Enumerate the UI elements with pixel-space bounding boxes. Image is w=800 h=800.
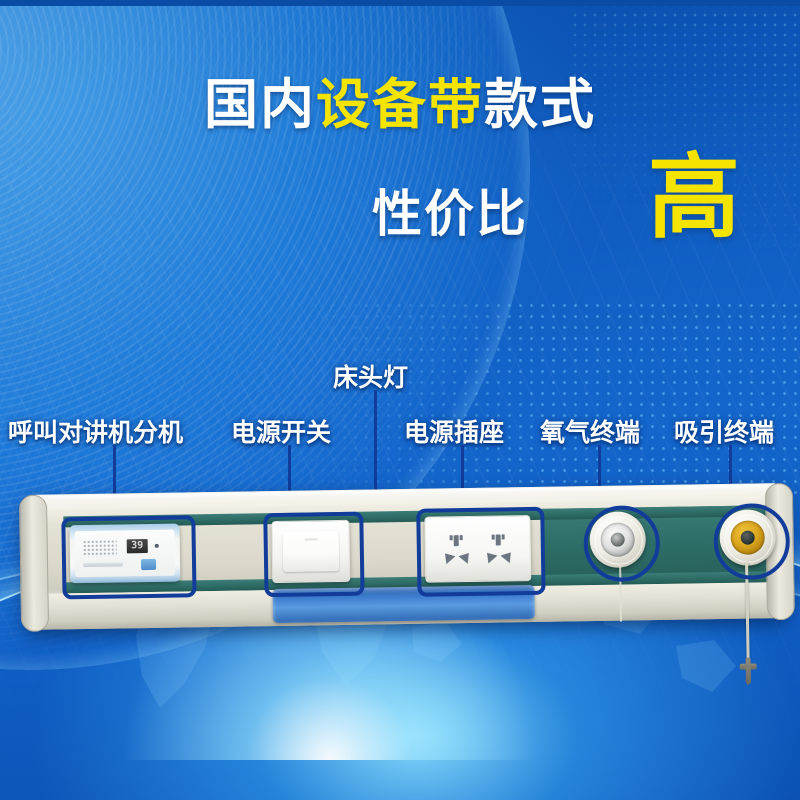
callout-label-suction: 吸引终端 (674, 413, 774, 449)
highlight-box-power-outlet (416, 507, 545, 597)
headline-line-2-row: 性价比 高 (0, 160, 800, 255)
top-edge-bar (0, 0, 800, 6)
headline-block: 国内设备带款式 (0, 78, 800, 132)
headline-accent-word: 高 (648, 152, 740, 244)
panel-end-cap-left (19, 495, 49, 632)
callout-label-oxygen: 氧气终端 (540, 413, 640, 449)
headline-line-2: 性价比 (372, 174, 528, 246)
promo-banner: 国内设备带款式 性价比 高 呼叫对讲机分机 电源开关 床头灯 电源插座 氧气终端… (0, 0, 800, 800)
callout-label-bed-light: 床头灯 (333, 358, 408, 394)
halftone-dots-middle (240, 300, 800, 500)
callout-label-power-switch: 电源开关 (231, 413, 331, 449)
headline-line1-highlight: 设备带 (316, 73, 484, 136)
headline-line1-suffix: 款式 (484, 73, 596, 136)
highlight-box-power-switch (263, 512, 364, 598)
callout-label-power-outlet: 电源插座 (404, 413, 504, 449)
highlight-box-intercom (61, 515, 196, 599)
callout-label-intercom: 呼叫对讲机分机 (8, 413, 183, 449)
suction-hose-connector-icon (740, 657, 757, 683)
bed-head-panel: 39 (21, 483, 791, 630)
headline-line-1: 国内设备带款式 (0, 78, 800, 132)
headline-line1-prefix: 国内 (204, 73, 316, 136)
